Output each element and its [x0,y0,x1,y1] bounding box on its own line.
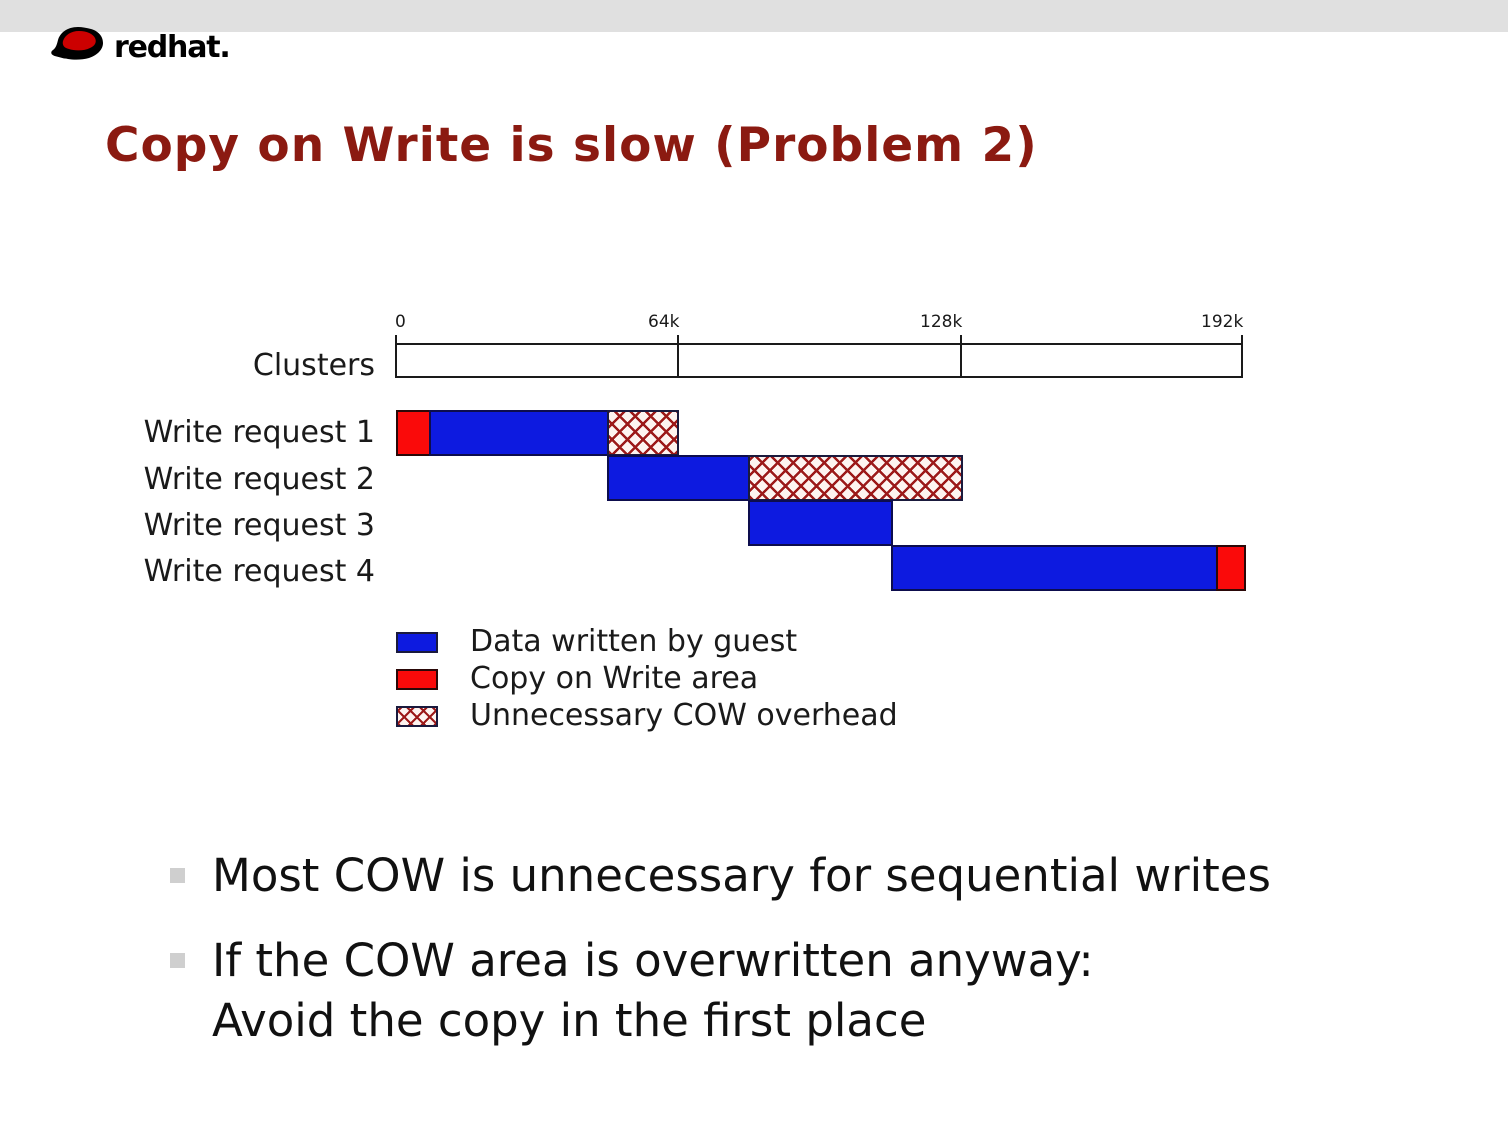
list-item: Most COW is unnecessary for sequential w… [170,846,1450,905]
cluster-divider-2 [960,343,962,378]
axis-tick-label-128k: 128k [920,312,962,332]
legend-label-cow-overhead: Unnecessary COW overhead [470,698,898,733]
list-item: If the COW area is overwritten anyway: A… [170,931,1450,1050]
row-label-write-request-3: Write request 3 [110,508,375,543]
axis-tick-mark-0 [395,335,397,343]
axis-tick-label-0: 0 [395,312,406,332]
row-label-write-request-4: Write request 4 [110,554,375,589]
bullet-square-icon [170,953,185,968]
axis-tick-label-192k: 192k [1201,312,1243,332]
bullet-text-2-line2: Avoid the copy in the first place [212,991,1450,1050]
bullet-square-icon [170,868,185,883]
bar-segment-overhead-r1 [607,410,679,456]
legend-swatch-blue-icon [396,632,438,653]
axis-tick-mark-192k [1241,335,1243,343]
row-label-write-request-2: Write request 2 [110,462,375,497]
bar-segment-data-r4 [891,545,1218,591]
axis-tick-mark-128k [960,335,962,343]
legend-label-data-written: Data written by guest [470,624,797,659]
legend-swatch-red-icon [396,669,438,690]
clusters-track [395,343,1243,378]
legend-label-cow-area: Copy on Write area [470,661,758,696]
bar-segment-cow-r4 [1216,545,1246,591]
bar-segment-data-r3 [748,500,893,546]
row-label-write-request-1: Write request 1 [110,415,375,450]
axis-tick-mark-64k [677,335,679,343]
bar-segment-data-r2 [607,455,750,501]
bullet-text-1: Most COW is unnecessary for sequential w… [212,846,1450,905]
axis-tick-label-64k: 64k [648,312,679,332]
bar-segment-data-r1 [429,410,609,456]
bar-segment-cow-r1 [396,410,431,456]
row-label-clusters: Clusters [110,348,375,383]
bullet-text-2-line1: If the COW area is overwritten anyway: [212,934,1094,987]
bullet-list: Most COW is unnecessary for sequential w… [170,846,1450,1076]
bar-segment-overhead-r2 [748,455,963,501]
legend-swatch-hatch-icon [396,706,438,727]
cluster-divider-1 [677,343,679,378]
